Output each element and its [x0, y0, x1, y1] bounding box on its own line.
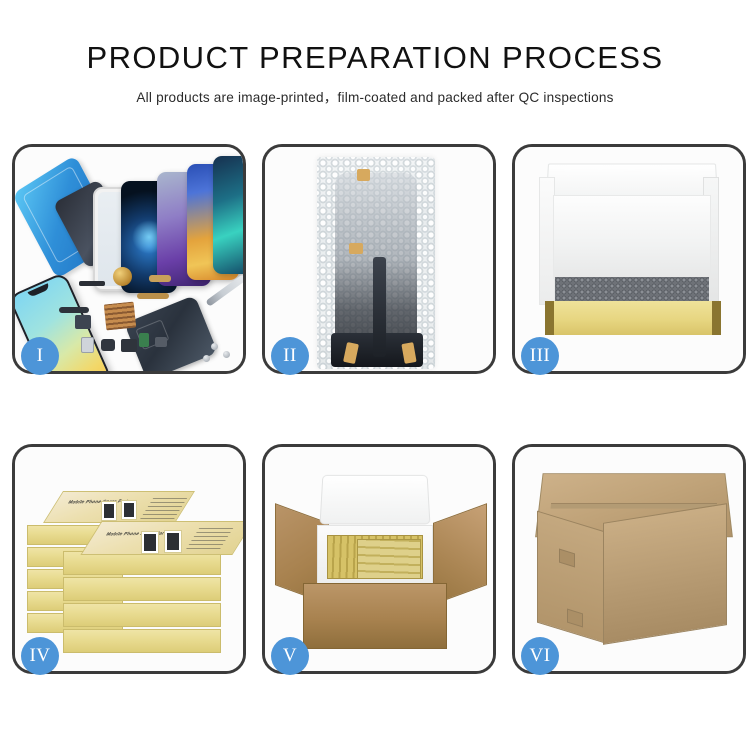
screw-part: [223, 351, 230, 358]
open-foam-lined-box-scene: [515, 147, 743, 371]
box-label-thumbnail: [121, 500, 137, 520]
step-5-image: [265, 447, 493, 671]
box-label-thumbnail: [141, 531, 159, 554]
phone-teal-display: [213, 156, 243, 274]
spare-part: [155, 337, 167, 347]
flex-cable-part: [137, 293, 169, 299]
process-step-3[interactable]: III: [512, 144, 746, 374]
carton-front-face: [603, 503, 727, 645]
box-back-flap: [546, 163, 718, 198]
step-badge-6: VI: [521, 637, 559, 675]
process-step-5[interactable]: V: [262, 444, 496, 674]
flex-cable-part: [59, 307, 89, 313]
bubble-wrapped-screen-scene: [265, 147, 493, 371]
process-step-1[interactable]: I: [12, 144, 246, 374]
process-step-grid: I II: [12, 144, 746, 674]
screw-part: [211, 343, 218, 350]
box-stack: Mobile Phone Spare Parts Mobile Phone Sp…: [25, 469, 237, 665]
spare-part: [139, 333, 149, 347]
stacked-retail-boxes-scene: Mobile Phone Spare Parts Mobile Phone Sp…: [15, 447, 243, 671]
carton-front-wall: [303, 583, 447, 649]
screw-part: [203, 355, 210, 362]
spare-part: [121, 339, 137, 352]
products-and-parts-scene: [15, 147, 243, 371]
tape-tab: [349, 243, 363, 254]
product-preparation-page: PRODUCT PREPARATION PROCESS All products…: [0, 0, 750, 750]
page-subtitle: All products are image-printed，film-coat…: [0, 86, 750, 106]
step-1-image: [15, 147, 243, 371]
step-badge-5: V: [271, 637, 309, 675]
process-step-4[interactable]: Mobile Phone Spare Parts Mobile Phone Sp…: [12, 444, 246, 674]
tape-tab: [357, 169, 370, 181]
step-badge-4: IV: [21, 637, 59, 675]
spare-part: [101, 339, 115, 351]
page-header: PRODUCT PREPARATION PROCESS All products…: [0, 0, 750, 106]
grey-foam-padding: [555, 277, 709, 303]
spare-part: [149, 275, 171, 282]
stacked-box: [63, 577, 221, 601]
box-label-thumbnail: [101, 501, 117, 521]
yellow-box-front: [545, 301, 721, 335]
spare-part: [79, 281, 105, 286]
page-title: PRODUCT PREPARATION PROCESS: [0, 42, 750, 75]
spare-part: [81, 337, 94, 353]
stacked-box: [63, 603, 221, 627]
step-badge-2: II: [271, 337, 309, 375]
step-badge-1: I: [21, 337, 59, 375]
process-step-2[interactable]: II: [262, 144, 496, 374]
stacked-box: [63, 629, 221, 653]
step-3-image: [515, 147, 743, 371]
spare-part: [75, 315, 91, 329]
step-4-image: Mobile Phone Spare Parts Mobile Phone Sp…: [15, 447, 243, 671]
flex-cable: [373, 257, 386, 357]
packed-yellow-boxes: [357, 539, 421, 579]
step-6-image: [515, 447, 743, 671]
copper-shield-part: [104, 302, 137, 331]
vibration-motor-part: [113, 267, 132, 286]
box-label-thumbnail: [164, 530, 182, 553]
process-step-6[interactable]: VI: [512, 444, 746, 674]
step-2-image: [265, 147, 493, 371]
sealed-shipping-carton-scene: [515, 447, 743, 671]
step-badge-3: III: [521, 337, 559, 375]
foam-box-lid: [320, 475, 431, 524]
carton-with-foam-insert-scene: [265, 447, 493, 671]
white-foam-lining: [553, 195, 711, 279]
